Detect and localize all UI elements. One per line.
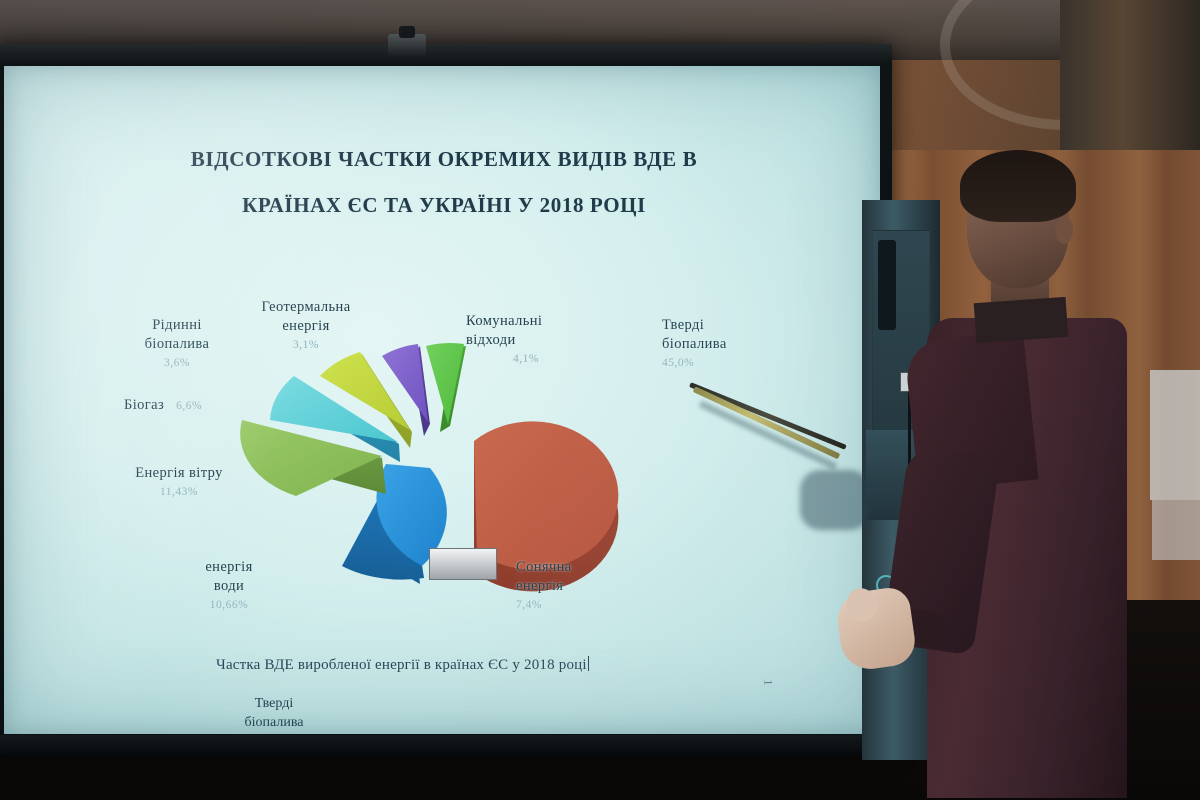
pie-label-liquid-biofuel-line1: Рідинні (122, 316, 232, 335)
pie-legend-chip-municipal-waste[interactable] (429, 548, 497, 580)
text-cursor (588, 656, 589, 671)
presenter-hair (960, 150, 1076, 222)
pie-label-solar-line2: енергія (516, 577, 626, 596)
pie-label-hydro: енергія води 10,66% (174, 558, 284, 615)
presenter (905, 150, 1165, 800)
chart-caption[interactable]: Частка ВДЕ виробленої енергії в країнах … (216, 656, 589, 674)
below-caption-label: Тверді біопалива 64,1% (209, 694, 339, 734)
pie-label-solid-biofuel: Тверді біопалива 45,0% (662, 316, 772, 373)
pie-label-liquid-biofuel: Рідинні біопалива 3,6% (122, 316, 232, 373)
below-caption-line1: Тверді (209, 694, 339, 713)
pie-label-solid-pct: 45,0% (662, 354, 772, 373)
pie-label-municipal-line1: Комунальні (466, 312, 586, 331)
pie-label-hydro-line1: енергія (174, 558, 284, 577)
pie-label-wind-text: Енергія вітру (114, 464, 244, 483)
pie-label-biogas-pct: 6,6% (176, 400, 202, 412)
projector-vent-slot (878, 240, 896, 330)
pie-label-solar-line1: Сонячна (516, 558, 626, 577)
pie-label-solar: Сонячна енергія 7,4% (516, 558, 626, 615)
pie-label-wind: Енергія вітру 11,43% (114, 464, 244, 502)
pie-label-solar-pct: 7,4% (516, 596, 626, 615)
pie-label-geothermal-line2: енергія (236, 317, 376, 336)
chart-caption-text: Частка ВДЕ виробленої енергії в країнах … (216, 657, 587, 673)
presenter-collar (974, 297, 1069, 343)
whiteboard-mount-clamp (388, 34, 426, 56)
pie-label-liquid-biofuel-line2: біопалива (122, 335, 232, 354)
classroom-presentation-scene: ВІДСОТКОВІ ЧАСТКИ ОКРЕМИХ ВИДІВ ВДЕ В КР… (0, 0, 1200, 800)
presentation-slide: ВІДСОТКОВІ ЧАСТКИ ОКРЕМИХ ВИДІВ ВДЕ В КР… (4, 66, 880, 678)
pie-label-municipal-line2: відходи (466, 331, 586, 350)
whiteboard-bottom-frame (0, 735, 892, 757)
pie-label-biogas-text: Біогаз (124, 397, 164, 413)
pie-label-municipal-pct: 4,1% (466, 350, 586, 369)
slide-title: ВІДСОТКОВІ ЧАСТКИ ОКРЕМИХ ВИДІВ ВДЕ В КР… (64, 136, 824, 228)
pie-slice-solar[interactable] (426, 343, 466, 432)
pie-label-hydro-pct: 10,66% (174, 596, 284, 615)
slide-title-line-2: КРАЇНАХ ЄС ТА УКРАЇНІ У 2018 РОЦІ (64, 182, 824, 228)
below-caption-pct: 64,1% (209, 732, 339, 734)
below-caption-line2: біопалива (209, 713, 339, 732)
pie-label-biogas: Біогаз 6,6% (124, 396, 274, 416)
pie-label-geothermal-pct: 3,1% (236, 336, 376, 355)
slide-title-line-1: ВІДСОТКОВІ ЧАСТКИ ОКРЕМИХ ВИДІВ ВДЕ В (64, 136, 824, 182)
pie-slice-geothermal[interactable] (382, 344, 430, 436)
pie-label-wind-pct: 11,43% (114, 483, 244, 502)
whiteboard-top-frame (0, 44, 892, 66)
hand-shadow (800, 470, 870, 530)
pie-label-geothermal: Геотермальна енергія 3,1% (236, 298, 376, 355)
page-side-mark: 1 (761, 680, 776, 688)
pie-label-solid-line1: Тверді (662, 316, 772, 335)
pie-label-solid-line2: біопалива (662, 335, 772, 354)
presenter-ear (1055, 216, 1073, 244)
pie-label-liquid-biofuel-pct: 3,6% (122, 354, 232, 373)
pie-label-municipal-waste: Комунальні відходи 4,1% (466, 312, 586, 369)
pie-label-geothermal-line1: Геотермальна (236, 298, 376, 317)
projection-screen[interactable]: ВІДСОТКОВІ ЧАСТКИ ОКРЕМИХ ВИДІВ ВДЕ В КР… (4, 66, 880, 734)
pie-label-hydro-line2: води (174, 577, 284, 596)
